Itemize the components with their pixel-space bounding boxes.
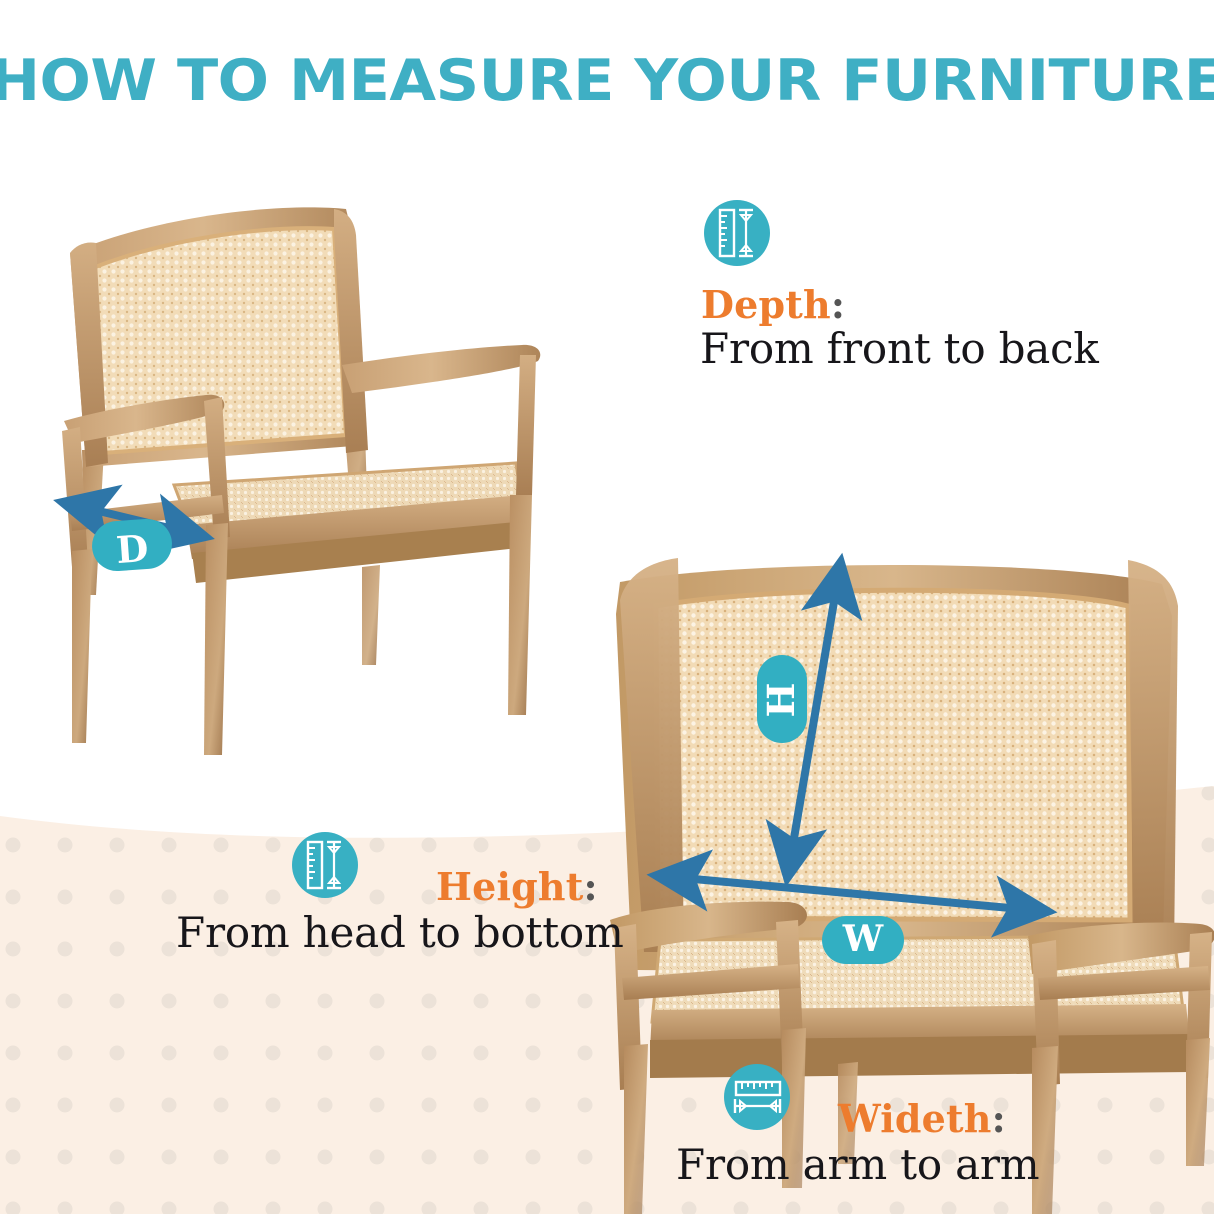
- ruler-vertical-icon-height: [288, 828, 362, 907]
- wideth-colon: :: [992, 1096, 1006, 1141]
- infographic-canvas: HOW TO MEASURE YOUR FURNITURE: [0, 0, 1214, 1214]
- ruler-horizontal-icon-wideth: [720, 1060, 794, 1139]
- wideth-kicker: Wideth: [838, 1096, 992, 1141]
- height-description: From head to bottom: [176, 908, 624, 957]
- chair-depth-view: [46, 195, 566, 775]
- depth-description: From front to back: [700, 324, 1099, 373]
- height-colon: :: [583, 864, 597, 909]
- height-kicker: Height: [436, 864, 583, 909]
- depth-kicker: Depth: [701, 282, 831, 327]
- height-kicker-row: Height:: [436, 864, 598, 909]
- depth-kicker-row: Depth:: [701, 282, 845, 327]
- page-title: HOW TO MEASURE YOUR FURNITURE: [0, 48, 1214, 114]
- ruler-vertical-icon-depth: [700, 196, 774, 275]
- wideth-kicker-row: Wideth:: [838, 1096, 1006, 1141]
- depth-colon: :: [831, 282, 845, 327]
- wideth-description: From arm to arm: [676, 1140, 1039, 1189]
